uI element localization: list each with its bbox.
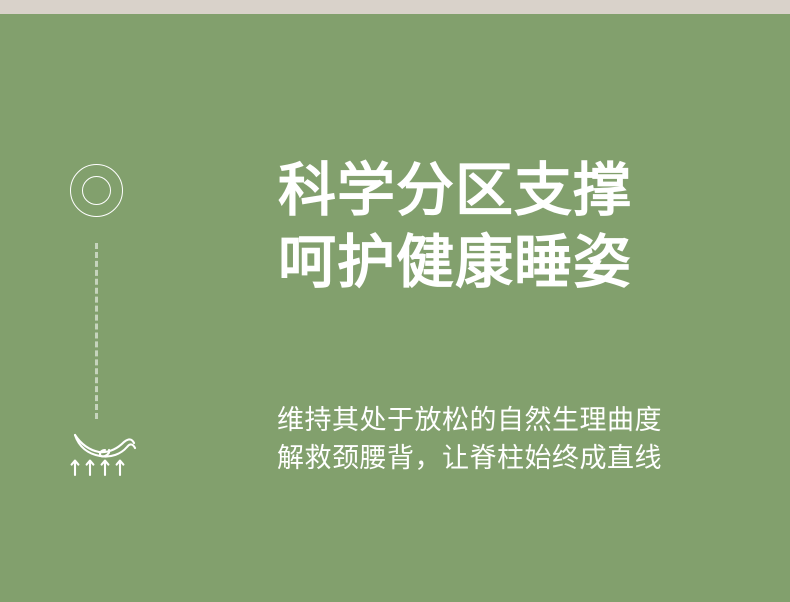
top-accent-strip (0, 0, 790, 14)
left-decoration-rail (62, 155, 142, 485)
headline-line-2: 呵护健康睡姿 (278, 226, 748, 298)
promo-banner: 科学分区支撑 呵护健康睡姿 维持其处于放松的自然生理曲度 解救颈腰背，让脊柱始终… (0, 0, 790, 602)
headline-line-1: 科学分区支撑 (278, 154, 748, 226)
concentric-circles-icon-inner (82, 176, 111, 205)
subtext-line-1: 维持其处于放松的自然生理曲度 (277, 402, 747, 440)
subtext-line-2: 解救颈腰背，让脊柱始终成直线 (277, 440, 747, 478)
pillow-support-icon (69, 427, 139, 477)
dashed-divider (95, 243, 98, 419)
subtext: 维持其处于放松的自然生理曲度 解救颈腰背，让脊柱始终成直线 (277, 402, 747, 478)
headline: 科学分区支撑 呵护健康睡姿 (278, 154, 748, 298)
